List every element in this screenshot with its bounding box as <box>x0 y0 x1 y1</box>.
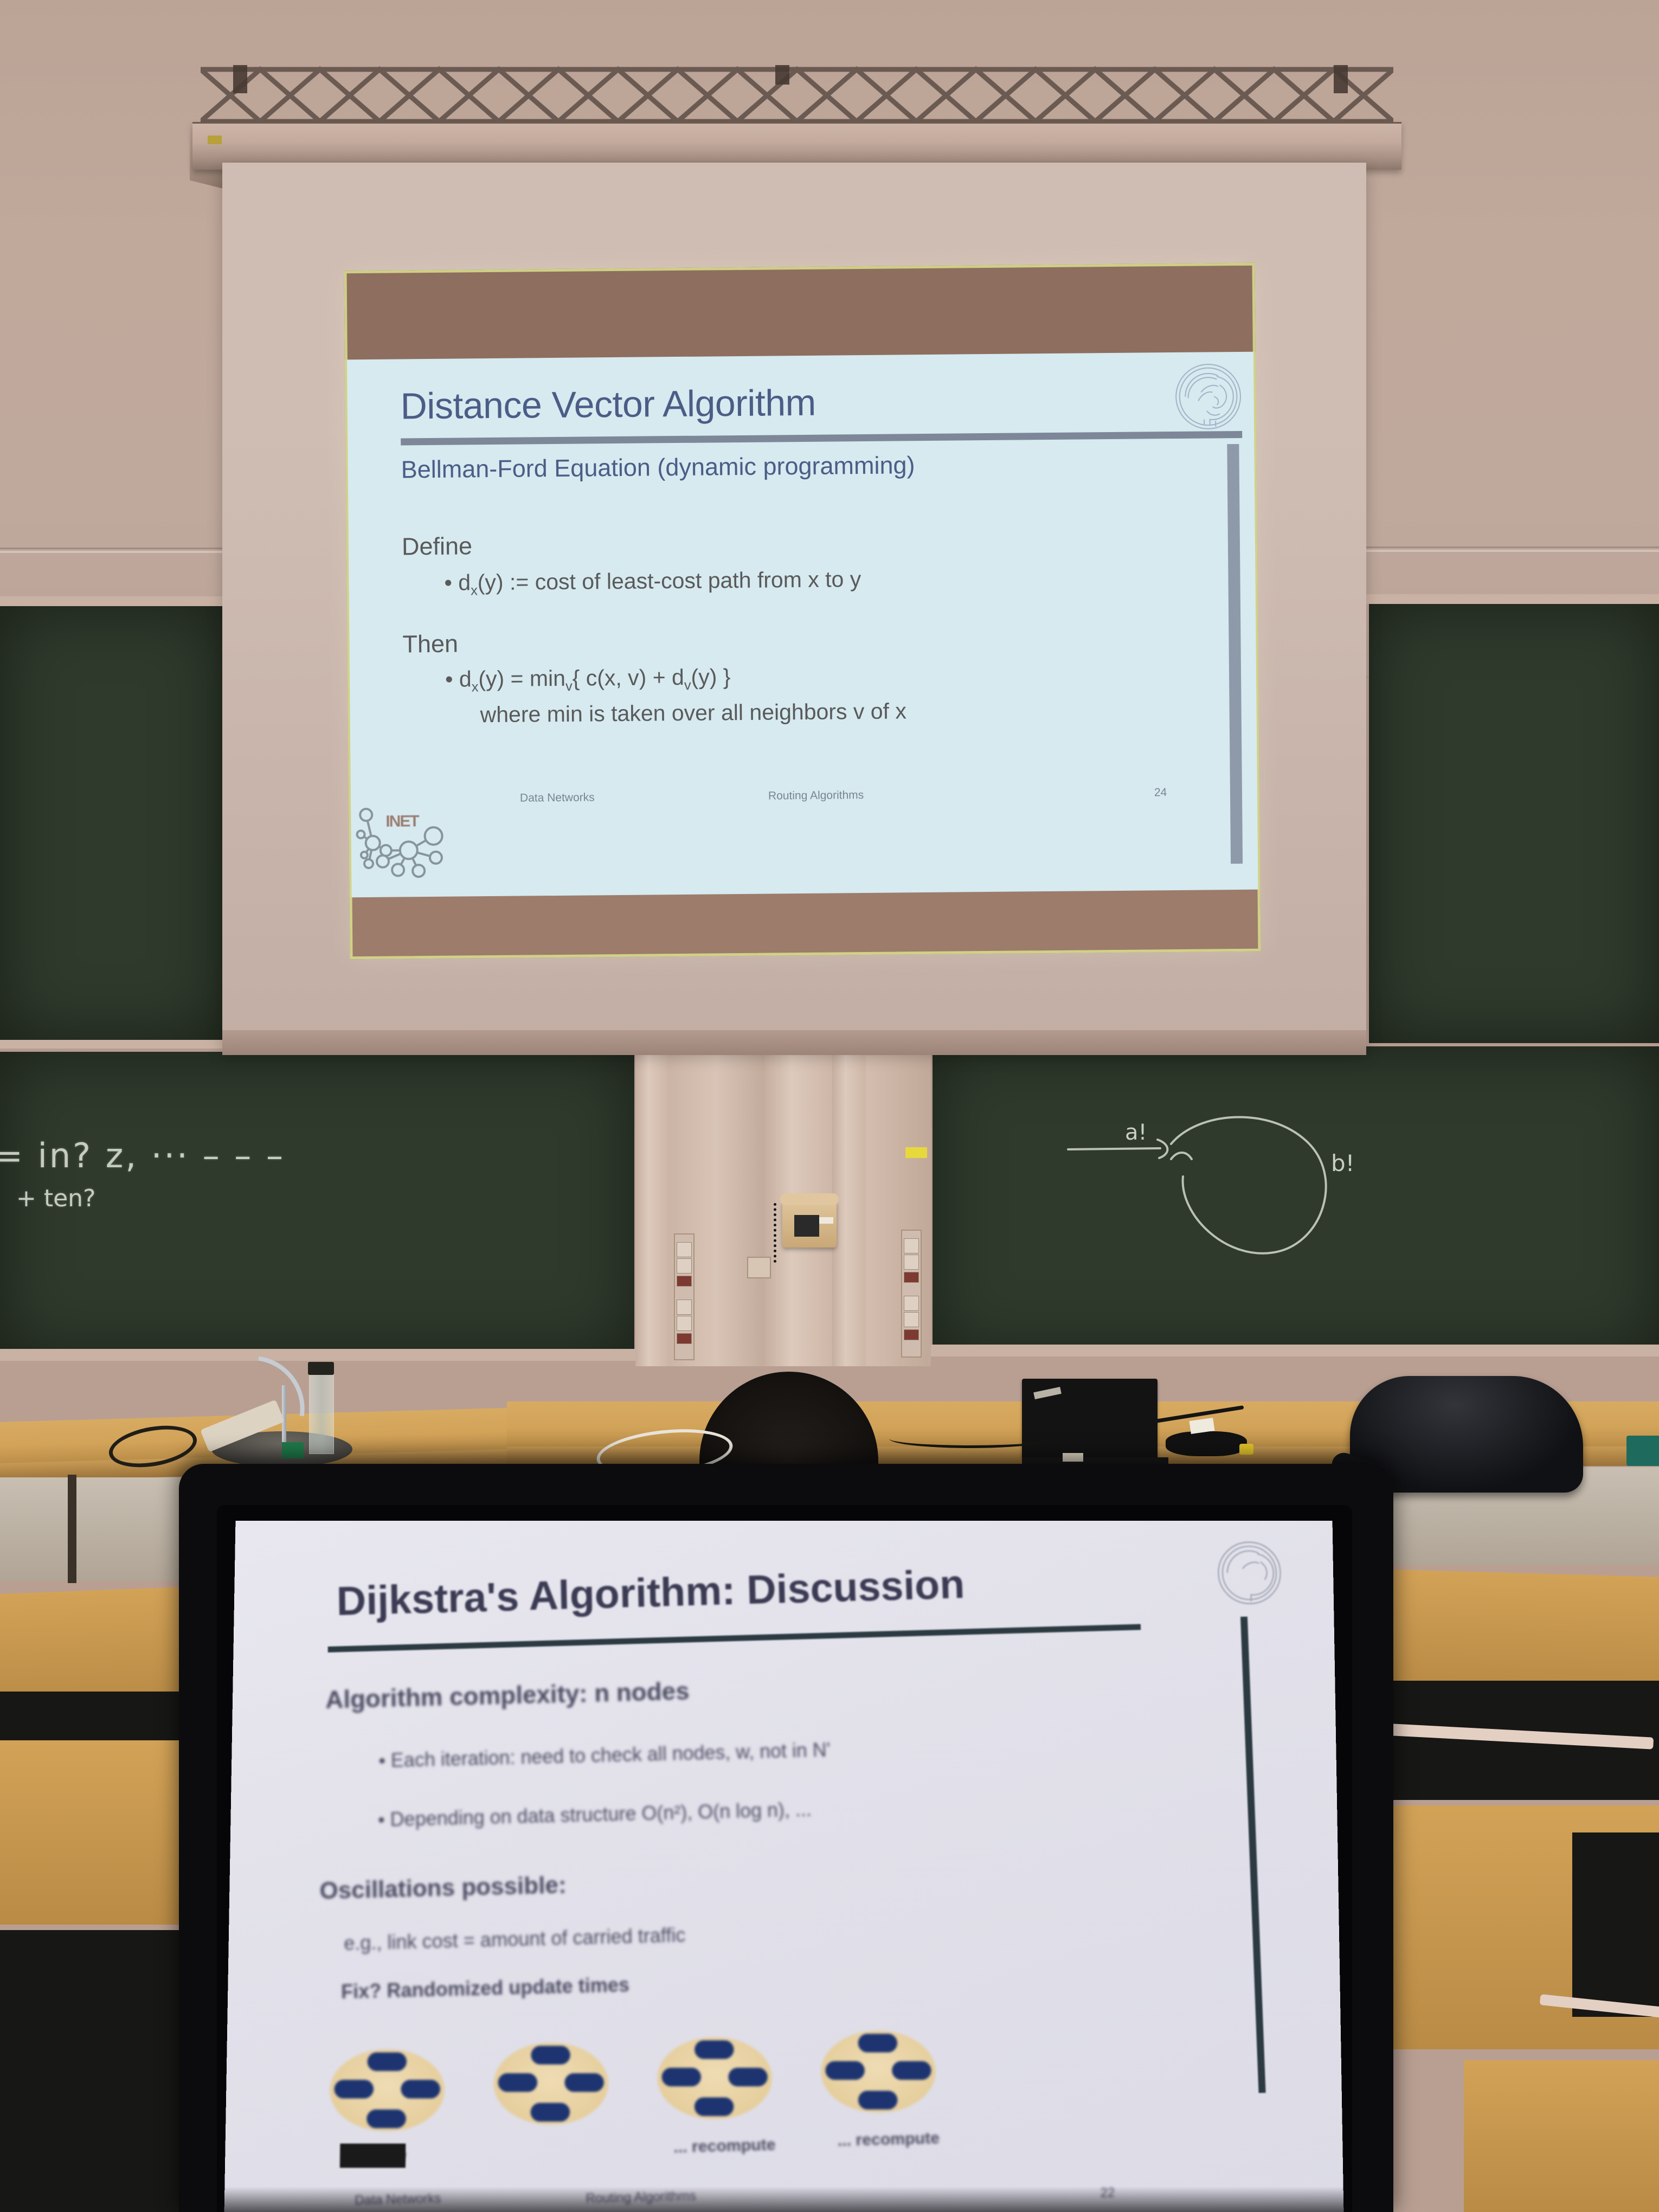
laptop-lid <box>1022 1379 1158 1457</box>
phone-cord <box>774 1203 788 1263</box>
network-figure-1 <box>330 2049 445 2132</box>
network-figure-4 <box>821 2030 936 2113</box>
figure-label-recompute-1: ... recompute <box>673 2136 776 2157</box>
eq-mid: (y) = min <box>478 666 565 691</box>
slide-bullet-then: • dx(y) = minv{ c(x, v) + dv(y) } <box>445 664 731 696</box>
chalkboard-frame-left <box>0 596 228 606</box>
phone-label <box>819 1217 833 1224</box>
control-button-down[interactable] <box>677 1258 692 1274</box>
chalk-text-line1: = in? z, ··· – – – <box>0 1136 285 1175</box>
laptop-heading-oscillations: Oscillations possible: <box>319 1872 567 1905</box>
eq-sub3: v <box>684 678 691 693</box>
chalkboard-frame-right <box>1364 594 1659 604</box>
chalk-text-line2: + ten? <box>16 1185 95 1212</box>
slide-accent-bar <box>1227 444 1243 864</box>
chalkboard-rail <box>930 1345 1659 1356</box>
control-button-up-2[interactable] <box>677 1300 692 1315</box>
foreground-laptop[interactable]: Dijkstra's Algorithm: Discussion Algorit… <box>179 1464 1393 2212</box>
bench-gap-right <box>1572 1832 1659 2017</box>
bullet-marker: • <box>378 1809 390 1831</box>
green-sponge <box>282 1442 304 1458</box>
slide-footer-left: Data Networks <box>520 791 595 805</box>
control-button-down[interactable] <box>904 1255 919 1270</box>
slide-title: Distance Vector Algorithm <box>400 382 816 428</box>
laptop-line-2: Fix? Randomized update times <box>341 1973 630 2003</box>
screen-control-panel-left[interactable] <box>674 1233 695 1360</box>
eq-rest: { c(x, v) + d <box>572 665 684 691</box>
slide-dijkstra-discussion: Dijkstra's Algorithm: Discussion Algorit… <box>224 1521 1343 2212</box>
projection-screen-bottom-bar <box>222 1030 1366 1055</box>
chalkboard-right-upper <box>1369 604 1659 1043</box>
slide-heading-then: Then <box>402 630 458 659</box>
chalkboard-rail <box>0 1349 637 1361</box>
chalkboard-frame-left <box>0 1040 228 1049</box>
roller-label <box>208 136 222 144</box>
max-planck-minerva-logo <box>1214 1539 1284 1607</box>
laptop-line-1: e.g., link cost = amount of carried traf… <box>344 1924 686 1955</box>
laptop-display[interactable]: Dijkstra's Algorithm: Discussion Algorit… <box>224 1521 1343 2212</box>
max-planck-minerva-logo <box>1172 361 1244 433</box>
chalkboard-left-upper <box>0 606 222 1040</box>
slide-title-rule <box>401 431 1242 446</box>
chalk-drawing-right: a! b! <box>1063 1090 1388 1263</box>
wall-phone[interactable] <box>782 1201 837 1248</box>
control-button-down-2[interactable] <box>677 1316 692 1331</box>
bullet-rest: (y) := cost of least-cost path from x to… <box>478 567 861 595</box>
bullet-subscript: x <box>471 583 478 598</box>
control-button-up[interactable] <box>677 1242 692 1257</box>
figure-label-recompute-2: ... recompute <box>837 2129 940 2150</box>
bullet-marker: • <box>445 667 459 692</box>
lecture-hall-photo: = in? z, ··· – – – + ten? a! b! <box>0 0 1659 2212</box>
screen-control-panel-right[interactable] <box>901 1230 922 1358</box>
phone-handset[interactable] <box>780 1193 839 1205</box>
network-figure-2 <box>493 2042 608 2125</box>
ceiling-truss <box>201 65 1393 125</box>
bench-leg <box>68 1475 76 1583</box>
pillar-right <box>832 1046 866 1366</box>
laptop-network-logo <box>340 2144 406 2168</box>
wall-seam-highlight <box>0 551 222 553</box>
cylinder-cap <box>308 1362 334 1375</box>
eq-sub1: x <box>472 679 479 695</box>
control-button-stop[interactable] <box>904 1272 919 1283</box>
eq-tail: (y) } <box>691 664 730 690</box>
control-button-stop-2[interactable] <box>677 1333 692 1344</box>
slide-bullet-then-line2: where min is taken over all neighbors v … <box>480 698 906 728</box>
network-graph-logo: INET <box>354 800 458 893</box>
graduated-cylinder[interactable] <box>309 1372 334 1454</box>
control-button-up-2[interactable] <box>904 1296 919 1311</box>
projected-image: Distance Vector Algorithm Bellman-Ford E… <box>344 263 1261 960</box>
bullet-marker: • <box>378 1750 391 1772</box>
cable-bundle <box>1166 1431 1247 1456</box>
eq-sub2: v <box>565 679 573 694</box>
laptop-bullet-1-text: Each iteration: need to check all nodes,… <box>391 1739 831 1771</box>
thinkpad-badge <box>1033 1387 1062 1399</box>
slide-heading-define: Define <box>402 532 473 561</box>
wall-seam <box>1366 546 1659 548</box>
wall-switch[interactable] <box>747 1257 771 1278</box>
control-button-stop-2[interactable] <box>904 1329 919 1340</box>
chalk-label-a: a! <box>1125 1120 1147 1145</box>
control-button-up[interactable] <box>904 1238 919 1253</box>
yellow-label-sticker <box>905 1147 927 1158</box>
laptop-slide-accent-bar <box>1240 1617 1266 2093</box>
bullet-marker: • <box>444 570 458 595</box>
slide-distance-vector: Distance Vector Algorithm Bellman-Ford E… <box>347 352 1258 898</box>
power-cable <box>889 1429 1052 1448</box>
slide-bullet-define: • dx(y) := cost of least-cost path from … <box>444 567 861 599</box>
wall-seam <box>0 548 222 549</box>
phone-keypad[interactable] <box>794 1215 819 1237</box>
yellow-connector <box>1239 1444 1253 1455</box>
foreground-shadow-left <box>0 1930 195 2212</box>
eq-lead: d <box>459 666 472 691</box>
tissue-box[interactable] <box>1626 1436 1659 1466</box>
laptop-bullet-2: • Depending on data structure O(n²), O(n… <box>378 1798 812 1831</box>
chalk-label-b: b! <box>1331 1150 1355 1176</box>
laptop-screen-vignette <box>224 2187 1343 2212</box>
bench-front-right-lower <box>1464 2060 1659 2212</box>
wall-seam-highlight <box>1366 550 1659 552</box>
slide-page-number: 24 <box>1154 786 1167 799</box>
usb-stick <box>1063 1453 1083 1462</box>
control-button-stop[interactable] <box>677 1276 692 1287</box>
bench-front-left <box>0 1740 195 1925</box>
laptop-slide-title: Dijkstra's Algorithm: Discussion <box>336 1561 965 1625</box>
laptop-bullet-1: • Each iteration: need to check all node… <box>378 1739 831 1772</box>
bullet-lead: d <box>458 570 471 595</box>
network-figure-3 <box>657 2037 772 2119</box>
slide-footer-center: Routing Algorithms <box>768 789 864 803</box>
laptop-bullet-2-text: Depending on data structure O(n²), O(n l… <box>390 1798 812 1831</box>
laptop-bezel: Dijkstra's Algorithm: Discussion Algorit… <box>217 1505 1352 2212</box>
pillar-left <box>635 1046 668 1366</box>
control-button-down-2[interactable] <box>904 1312 919 1327</box>
laptop-slide-rule <box>328 1624 1141 1652</box>
slide-subtitle: Bellman-Ford Equation (dynamic programmi… <box>401 451 915 484</box>
laptop-heading-complexity: Algorithm complexity: n nodes <box>325 1676 690 1714</box>
network-logo-wordmark: INET <box>385 812 419 831</box>
